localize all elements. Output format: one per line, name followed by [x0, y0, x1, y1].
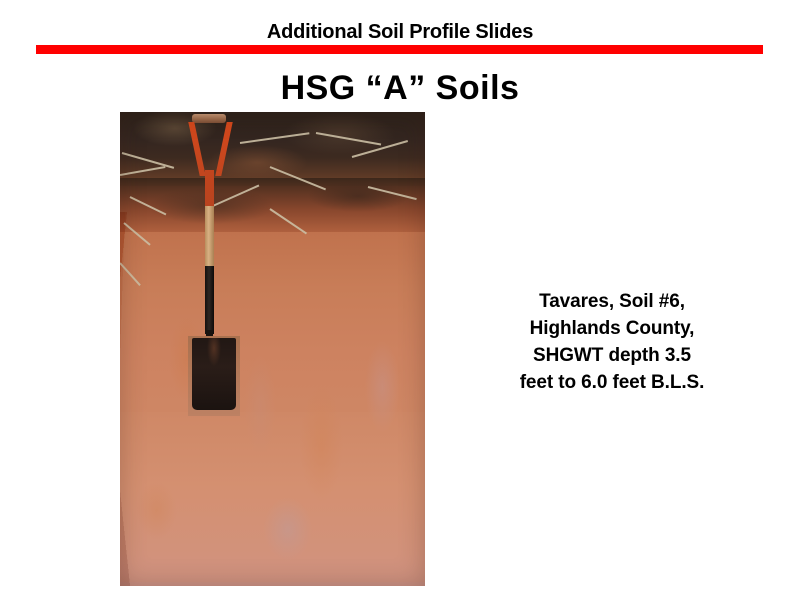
spade-tool: [184, 114, 244, 414]
photo-canvas: [120, 112, 425, 586]
soil-profile-photograph: [120, 112, 425, 586]
spade-wooden-shaft: [205, 206, 214, 268]
caption-line-4: feet to 6.0 feet B.L.S.: [462, 369, 762, 396]
caption-line-3: SHGWT depth 3.5: [462, 342, 762, 369]
spade-yoke-left: [188, 122, 205, 176]
caption-line-1: Tavares, Soil #6,: [462, 288, 762, 315]
photo-caption: Tavares, Soil #6, Highlands County, SHGW…: [462, 288, 762, 396]
page-title: Additional Soil Profile Slides: [0, 20, 800, 44]
spade-steel-ferrule: [205, 266, 214, 334]
slide-subtitle: HSG “A” Soils: [0, 68, 800, 108]
spade-blade: [192, 338, 236, 410]
slide-canvas: Additional Soil Profile Slides HSG “A” S…: [0, 0, 800, 600]
soil-texture-streaks: [120, 212, 425, 586]
spade-d-grip: [192, 114, 226, 123]
header-divider-rule: [36, 45, 763, 54]
caption-line-2: Highlands County,: [462, 315, 762, 342]
spade-yoke-right: [215, 122, 232, 176]
spade-collar: [205, 170, 214, 210]
